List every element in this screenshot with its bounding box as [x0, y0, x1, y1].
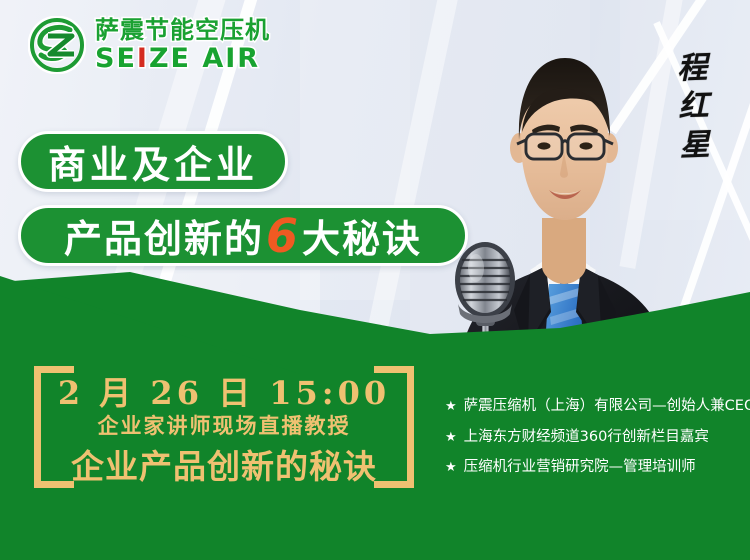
event-details-block: 2 月 26 日 15:00 企业家讲师现场直播教授 企业产品创新的秘诀	[34, 366, 414, 488]
event-topic: 企业产品创新的秘诀	[44, 440, 404, 488]
speaker-name-char-1: 红	[671, 88, 716, 128]
brand-name-en: SEIZE AIR	[95, 45, 270, 72]
event-datetime: 2 月 26 日 15:00	[54, 368, 394, 414]
speaker-name-char-0: 程	[670, 49, 715, 89]
credentials-list: ★ 萨震压缩机（上海）有限公司—创始人兼CEO ★ 上海东方财经频道360行创新…	[445, 398, 745, 490]
star-icon: ★	[445, 459, 457, 477]
brand-name-en-pre: SE	[95, 43, 137, 74]
brand-name-en-post: ZE AIR	[149, 43, 260, 74]
sz-monogram-icon	[28, 16, 86, 74]
headline-line-2-pre: 产品创新的	[64, 208, 264, 263]
brand-name-cn: 萨震节能空压机	[95, 18, 270, 42]
credential-text: 压缩机行业营销研究院—管理培训师	[464, 459, 696, 476]
event-subtitle: 企业家讲师现场直播教授	[54, 410, 394, 440]
brand-wordmark: 萨震节能空压机 SEIZE AIR	[95, 18, 270, 72]
star-icon: ★	[445, 429, 457, 447]
bracket-right-side	[407, 366, 414, 488]
promo-poster: 萨震节能空压机 SEIZE AIR 商业及企业 产品创新的6大秘诀 程 红 星 …	[0, 0, 750, 560]
speaker-name-char-2: 星	[673, 126, 718, 166]
star-icon: ★	[445, 398, 457, 416]
headline-line-1: 商业及企业	[48, 134, 258, 189]
headline-pill-primary: 商业及企业	[18, 131, 288, 192]
speaker-name-calligraphy: 程 红 星	[670, 49, 718, 166]
headline-number: 6	[264, 213, 302, 259]
list-item: ★ 上海东方财经频道360行创新栏目嘉宾	[445, 429, 745, 447]
headline-line-2-post: 大秘诀	[302, 208, 422, 263]
brand-logo: 萨震节能空压机 SEIZE AIR	[28, 16, 270, 74]
list-item: ★ 萨震压缩机（上海）有限公司—创始人兼CEO	[445, 398, 745, 416]
bracket-left-side	[34, 366, 41, 488]
list-item: ★ 压缩机行业营销研究院—管理培训师	[445, 459, 745, 477]
brand-name-en-accent: I	[137, 43, 149, 74]
credential-text: 上海东方财经频道360行创新栏目嘉宾	[464, 429, 709, 446]
credential-text: 萨震压缩机（上海）有限公司—创始人兼CEO	[464, 398, 750, 415]
headline-pill-secondary: 产品创新的6大秘诀	[18, 205, 468, 266]
